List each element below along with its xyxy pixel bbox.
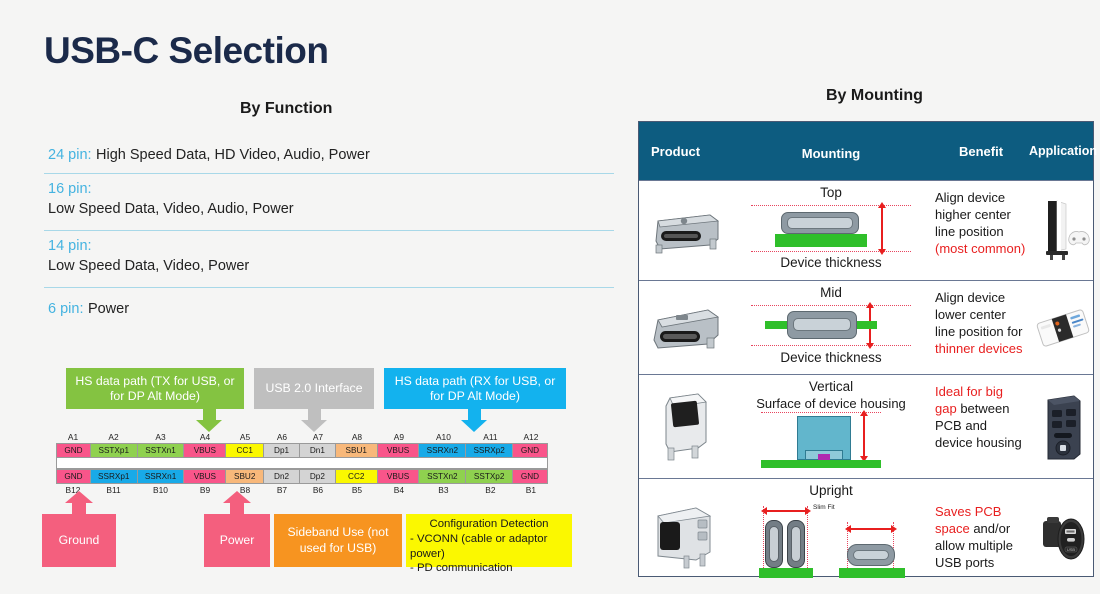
benefit-text: between bbox=[960, 401, 1009, 416]
pin-cell-a: SSRXn2 bbox=[419, 444, 466, 457]
pin-cell-a: VBUS bbox=[378, 444, 420, 457]
mount-illustration bbox=[735, 201, 927, 257]
pin-table-gap bbox=[56, 458, 548, 469]
car-usb-charger-icon: USB bbox=[1037, 505, 1089, 569]
pin-desc: Low Speed Data, Video, Audio, Power bbox=[48, 201, 614, 217]
benefit-line: Align device bbox=[935, 289, 1031, 306]
pin-desc: High Speed Data, HD Video, Audio, Power bbox=[96, 147, 370, 163]
pin-count-label: 16 pin: bbox=[48, 181, 92, 197]
benefit-highlight: (most common) bbox=[935, 240, 1031, 257]
pin-label-a: A3 bbox=[137, 431, 184, 443]
by-mounting-heading: By Mounting bbox=[826, 87, 923, 105]
legend-arrow-ground-icon bbox=[65, 491, 93, 503]
pin-cell-a: SSTXn1 bbox=[138, 444, 185, 457]
application-cell bbox=[1035, 281, 1091, 374]
pin-cell-a: SSTXp1 bbox=[91, 444, 138, 457]
pin-cell-b: SSTXp2 bbox=[466, 470, 513, 483]
pin-label-a: A5 bbox=[226, 431, 264, 443]
pin-function-list: 24 pin: High Speed Data, HD Video, Audio… bbox=[44, 140, 614, 327]
pin-cell-b: VBUS bbox=[184, 470, 226, 483]
mount-illustration bbox=[735, 301, 927, 353]
pin-label-a: A9 bbox=[378, 431, 420, 443]
benefit-line: higher center bbox=[935, 206, 1031, 223]
column-header-mounting: Mounting bbox=[735, 142, 927, 161]
benefit-cell: Ideal for big gap between PCB and device… bbox=[927, 375, 1035, 478]
usb-c-top-mount-connector-icon bbox=[650, 205, 724, 257]
pin-callouts: HS data path (TX for USB, or for DP Alt … bbox=[66, 368, 566, 412]
usb-c-upright-mount-connector-icon bbox=[648, 498, 726, 576]
pin-label-a: A11 bbox=[467, 431, 514, 443]
benefit-text: and/or bbox=[973, 521, 1010, 536]
pin-label-b: B1 bbox=[514, 484, 548, 496]
pin-cell-a: GND bbox=[513, 444, 547, 457]
table-row: Vertical Surface of device housing Ideal… bbox=[639, 374, 1093, 478]
pin-label-b: B7 bbox=[264, 484, 300, 496]
mount-title: Vertical bbox=[735, 379, 927, 394]
column-header-product: Product bbox=[639, 144, 735, 159]
smartphone-tilted-icon bbox=[1035, 298, 1091, 358]
pin-row-a-cells: GNDSSTXp1SSTXn1VBUSCC1Dp1Dn1SBU1VBUSSSRX… bbox=[56, 443, 548, 458]
pin-cell-b: GND bbox=[513, 470, 547, 483]
pin-cell-b: GND bbox=[57, 470, 91, 483]
pin-count-label: 14 pin: bbox=[48, 238, 92, 254]
pin-list-item: 14 pin: Low Speed Data, Video, Power bbox=[44, 231, 614, 288]
pin-legend: Ground Power Sideband Use (not used for … bbox=[42, 514, 572, 568]
mount-title: Top bbox=[735, 185, 927, 200]
benefit-line: Align device bbox=[935, 189, 1031, 206]
pin-row-b-cells: GNDSSRXp1SSRXn1VBUSSBU2Dn2Dp2CC2VBUSSSTX… bbox=[56, 469, 548, 484]
pin-count-label: 6 pin: bbox=[48, 301, 83, 317]
application-cell: USB bbox=[1035, 479, 1091, 594]
callout-hs-rx: HS data path (RX for USB, or for DP Alt … bbox=[384, 368, 566, 409]
pin-desc: Low Speed Data, Video, Power bbox=[48, 258, 614, 274]
benefit-highlight: Ideal for big bbox=[935, 383, 1031, 400]
pin-cell-b: VBUS bbox=[378, 470, 420, 483]
mounting-table-header: Product Mounting Benefit Application bbox=[639, 122, 1093, 180]
benefit-line: gap between bbox=[935, 400, 1031, 417]
pin-cell-a: GND bbox=[57, 444, 91, 457]
product-cell bbox=[639, 375, 735, 478]
mounting-cell: Upright Slim Fit bbox=[735, 479, 927, 594]
pin-cell-b: CC2 bbox=[336, 470, 378, 483]
benefit-highlight: Saves PCB bbox=[935, 503, 1031, 520]
pin-label-a: A7 bbox=[300, 431, 336, 443]
pin-label-b: B6 bbox=[300, 484, 336, 496]
benefit-line: line position for bbox=[935, 323, 1031, 340]
product-cell bbox=[639, 181, 735, 280]
benefit-cell: Saves PCB space and/or allow multiple US… bbox=[927, 479, 1035, 594]
benefit-cell: Align device higher center line position… bbox=[927, 181, 1035, 280]
svg-text:USB: USB bbox=[1067, 547, 1076, 552]
mounting-cell: Mid Device thickness bbox=[735, 281, 927, 374]
pin-list-item: 16 pin: Low Speed Data, Video, Audio, Po… bbox=[44, 174, 614, 231]
pin-desc: Power bbox=[88, 301, 129, 317]
legend-config-vconn: - VCONN (cable or adaptor power) bbox=[410, 532, 568, 562]
pin-cell-a: CC1 bbox=[226, 444, 264, 457]
power-strip-hub-icon bbox=[1040, 390, 1086, 464]
pin-count-label: 24 pin: bbox=[48, 147, 92, 163]
legend-config-title: Configuration Detection bbox=[429, 518, 548, 530]
legend-power: Power bbox=[204, 514, 270, 567]
pin-cell-a: SBU1 bbox=[336, 444, 378, 457]
pin-label-b: B10 bbox=[137, 484, 184, 496]
benefit-cell: Align device lower center line position … bbox=[927, 281, 1035, 374]
benefit-line: device housing bbox=[935, 434, 1031, 451]
mounting-cell: Vertical Surface of device housing bbox=[735, 375, 927, 478]
table-row: Upright Slim Fit bbox=[639, 478, 1093, 594]
by-function-heading: By Function bbox=[240, 100, 332, 118]
pin-label-a: A6 bbox=[264, 431, 300, 443]
benefit-line: PCB and bbox=[935, 417, 1031, 434]
pin-label-a: A1 bbox=[56, 431, 90, 443]
mount-title: Mid bbox=[735, 285, 927, 300]
usb-c-mid-mount-connector-icon bbox=[650, 302, 724, 354]
mount-subtitle: Surface of device housing bbox=[735, 396, 927, 411]
pin-cell-a: SSRXp2 bbox=[466, 444, 513, 457]
pin-cell-b: SSTXn2 bbox=[419, 470, 466, 483]
callout-hs-tx: HS data path (TX for USB, or for DP Alt … bbox=[66, 368, 244, 409]
product-cell bbox=[639, 281, 735, 374]
pin-label-a: A10 bbox=[420, 431, 467, 443]
benefit-line: line position bbox=[935, 223, 1031, 240]
product-cell bbox=[639, 479, 735, 594]
pin-label-a: A4 bbox=[184, 431, 226, 443]
pin-cell-b: SSRXn1 bbox=[138, 470, 185, 483]
mounting-cell: Top Device thickness bbox=[735, 181, 927, 280]
pin-cell-b: SSRXp1 bbox=[91, 470, 138, 483]
pin-label-a: A12 bbox=[514, 431, 548, 443]
pin-list-item: 24 pin: High Speed Data, HD Video, Audio… bbox=[44, 140, 614, 174]
benefit-line: lower center bbox=[935, 306, 1031, 323]
callout-usb2: USB 2.0 Interface bbox=[254, 368, 374, 409]
pin-label-b: B9 bbox=[184, 484, 226, 496]
pin-label-b: B4 bbox=[378, 484, 420, 496]
pin-cell-a: Dn1 bbox=[300, 444, 336, 457]
benefit-highlight: space bbox=[935, 521, 970, 536]
column-header-benefit: Benefit bbox=[927, 144, 1035, 159]
application-cell bbox=[1035, 181, 1091, 280]
application-cell bbox=[1035, 375, 1091, 478]
pin-list-item: 6 pin: Power bbox=[44, 288, 614, 327]
legend-arrow-power-icon bbox=[223, 491, 251, 503]
legend-ground: Ground bbox=[42, 514, 116, 567]
mount-caption: Device thickness bbox=[735, 255, 927, 270]
benefit-line: space and/or bbox=[935, 520, 1031, 537]
legend-config-pd: - PD communication bbox=[410, 561, 568, 576]
pin-cell-a: VBUS bbox=[184, 444, 226, 457]
column-header-application: Application bbox=[1035, 144, 1091, 158]
usb-c-pinout-table: A1A2A3A4A5A6A7A8A9A10A11A12 GNDSSTXp1SST… bbox=[56, 431, 548, 496]
game-console-and-controller-icon bbox=[1036, 197, 1090, 265]
table-row: Mid Device thickness Align device lower … bbox=[639, 280, 1093, 374]
benefit-line: USB ports bbox=[935, 554, 1031, 571]
pin-label-b: B3 bbox=[420, 484, 467, 496]
pin-cell-b: SBU2 bbox=[226, 470, 264, 483]
pin-row-b-labels: B12B11B10B9B8B7B6B5B4B3B2B1 bbox=[56, 484, 548, 496]
legend-configuration-detection: Configuration Detection - VCONN (cable o… bbox=[406, 514, 572, 567]
mount-title: Upright bbox=[735, 483, 927, 498]
mount-illustration: Slim Fit bbox=[735, 500, 927, 588]
pin-label-b: B5 bbox=[336, 484, 378, 496]
pin-cell-b: Dn2 bbox=[264, 470, 300, 483]
mounting-table: Product Mounting Benefit Application Top bbox=[638, 121, 1094, 577]
pin-label-a: A8 bbox=[336, 431, 378, 443]
legend-sideband: Sideband Use (not used for USB) bbox=[274, 514, 402, 567]
benefit-highlight: gap bbox=[935, 401, 957, 416]
pin-label-b: B11 bbox=[90, 484, 137, 496]
pin-row-a-labels: A1A2A3A4A5A6A7A8A9A10A11A12 bbox=[56, 431, 548, 443]
slim-fit-label: Slim Fit bbox=[813, 504, 835, 511]
pin-cell-a: Dp1 bbox=[264, 444, 300, 457]
table-row: Top Device thickness Align device higher… bbox=[639, 180, 1093, 280]
page-title: USB-C Selection bbox=[44, 30, 328, 72]
pin-label-a: A2 bbox=[90, 431, 137, 443]
benefit-line: allow multiple bbox=[935, 537, 1031, 554]
pin-cell-b: Dp2 bbox=[300, 470, 336, 483]
usb-c-vertical-mount-connector-icon bbox=[652, 390, 722, 464]
benefit-highlight: thinner devices bbox=[935, 340, 1031, 357]
mount-illustration bbox=[735, 412, 927, 470]
pin-label-b: B2 bbox=[467, 484, 514, 496]
